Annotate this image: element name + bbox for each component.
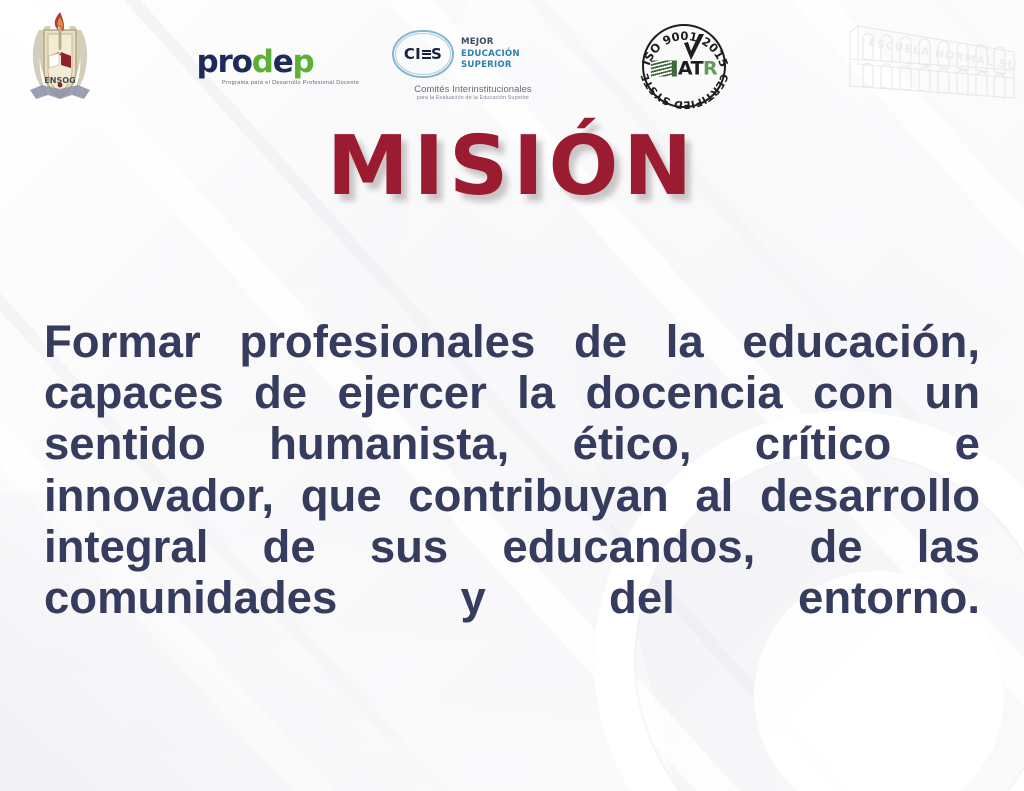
ciees-letter-c: C <box>404 45 415 63</box>
crest-icon: ENSOG <box>22 8 98 110</box>
atr-letter-a: A <box>678 57 691 79</box>
ciees-logo: CIS MEJOR EDUCACIÓN SUPERIOR Comités Int… <box>392 24 554 108</box>
ensog-crest-logo: ENSOG <box>22 8 98 110</box>
prodep-wordmark: prodep <box>197 47 314 78</box>
prodep-subtitle: Programa para el Desarrollo Profesional … <box>197 79 384 85</box>
atr-flag-icon <box>651 61 677 77</box>
mision-slide: ENSOG prodep Programa para el Desarrollo… <box>0 0 1024 791</box>
atr-mark: ATR <box>651 59 717 78</box>
ciees-tagline: MEJOR EDUCACIÓN SUPERIOR <box>461 37 520 71</box>
prodep-e: e <box>273 44 293 80</box>
building-label: ESCUELA NORMAL SUPERIOR OFICIAL <box>868 36 1018 90</box>
ciees-bars-icon <box>422 50 431 59</box>
ciees-circle-icon: CIS <box>392 30 454 78</box>
prodep-p: p <box>293 44 314 80</box>
prodep-d: d <box>252 44 273 80</box>
ciees-tagline-line3: SUPERIOR <box>461 60 520 71</box>
atr-letter-r: R <box>703 57 717 79</box>
ciees-letter-i: I <box>415 45 421 63</box>
prodep-pro: pro <box>197 44 252 80</box>
ciees-footer-line1: Comités Interinstitucionales <box>392 83 554 95</box>
building-icon: ESCUELA NORMAL SUPERIOR OFICIAL <box>836 2 1018 114</box>
ciees-mark-row: CIS MEJOR EDUCACIÓN SUPERIOR <box>392 30 554 78</box>
ciees-footer: Comités Interinstitucionales para la Eva… <box>392 83 554 102</box>
ciees-tagline-line1: MEJOR <box>461 37 520 48</box>
crest-banner-text: ENSOG <box>44 76 75 85</box>
atr-letter-t: T <box>691 57 703 79</box>
logo-strip: ENSOG prodep Programa para el Desarrollo… <box>0 0 1024 118</box>
mission-statement-text: Formar profesionales de la educación, ca… <box>44 316 980 674</box>
iso-certification-badge: ISO 9001:2015 CERTIFIED SYSTEM ATR <box>632 18 736 114</box>
ciees-letter-s: S <box>431 45 442 63</box>
prodep-logo: prodep Programa para el Desarrollo Profe… <box>200 44 310 86</box>
ciees-tagline-line2: EDUCACIÓN <box>461 49 520 60</box>
ciees-footer-line2: para la Evaluación de la Educación Super… <box>392 95 554 102</box>
ciees-acronym: CIS <box>404 45 442 63</box>
page-title: MISIÓN <box>0 124 1024 210</box>
school-building-outline: ESCUELA NORMAL SUPERIOR OFICIAL <box>836 2 1018 114</box>
